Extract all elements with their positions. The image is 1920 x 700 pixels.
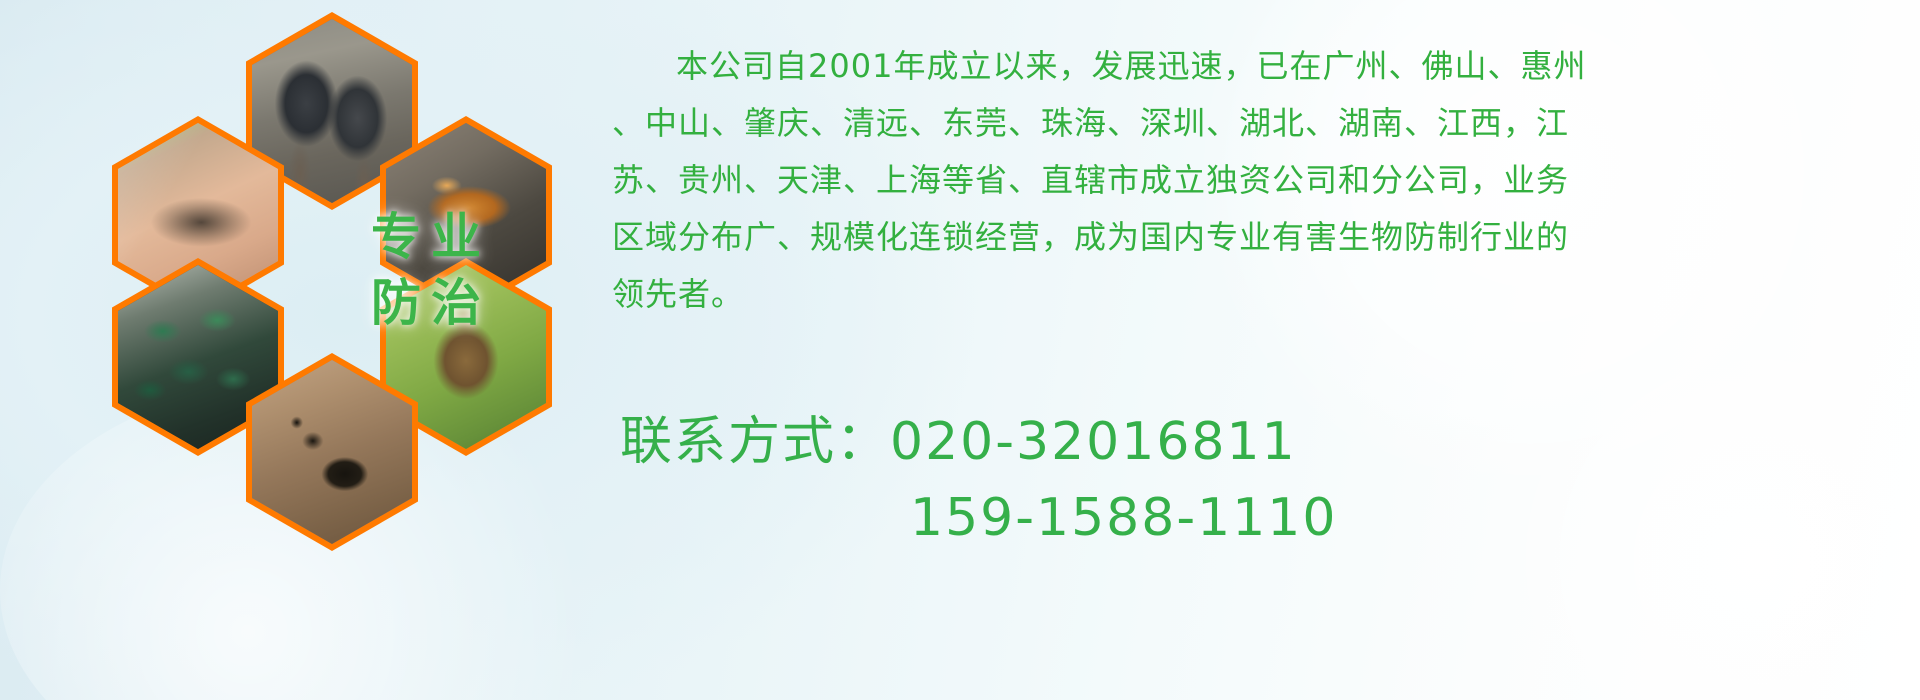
description-line-5: 领先者。: [612, 266, 1912, 323]
description-line-3: 苏、贵州、天津、上海等省、直辖市成立独资公司和分公司，业务: [612, 152, 1912, 209]
contact-information: 联系方式：020-32016811 159-1588-1110: [620, 404, 1920, 556]
promo-banner: 专业 防治 本公司自2001年成立以来，发展迅速，已在广州、佛山、惠州 、中山、…: [0, 0, 1920, 700]
ant-photo-icon: [252, 360, 412, 544]
contact-phone-secondary[interactable]: 159-1588-1110: [620, 480, 1920, 556]
description-line-2: 、中山、肇庆、清远、东莞、珠海、深圳、湖北、湖南、江西，江: [612, 95, 1912, 152]
contact-phone-primary[interactable]: 联系方式：020-32016811: [620, 404, 1920, 480]
hexagon-image-cluster: 专业 防治: [88, 8, 578, 553]
description-line-1: 本公司自2001年成立以来，发展迅速，已在广州、佛山、惠州: [612, 38, 1912, 95]
company-description: 本公司自2001年成立以来，发展迅速，已在广州、佛山、惠州 、中山、肇庆、清远、…: [612, 38, 1912, 323]
description-line-4: 区域分布广、规模化连锁经营，成为国内专业有害生物防制行业的: [612, 209, 1912, 266]
